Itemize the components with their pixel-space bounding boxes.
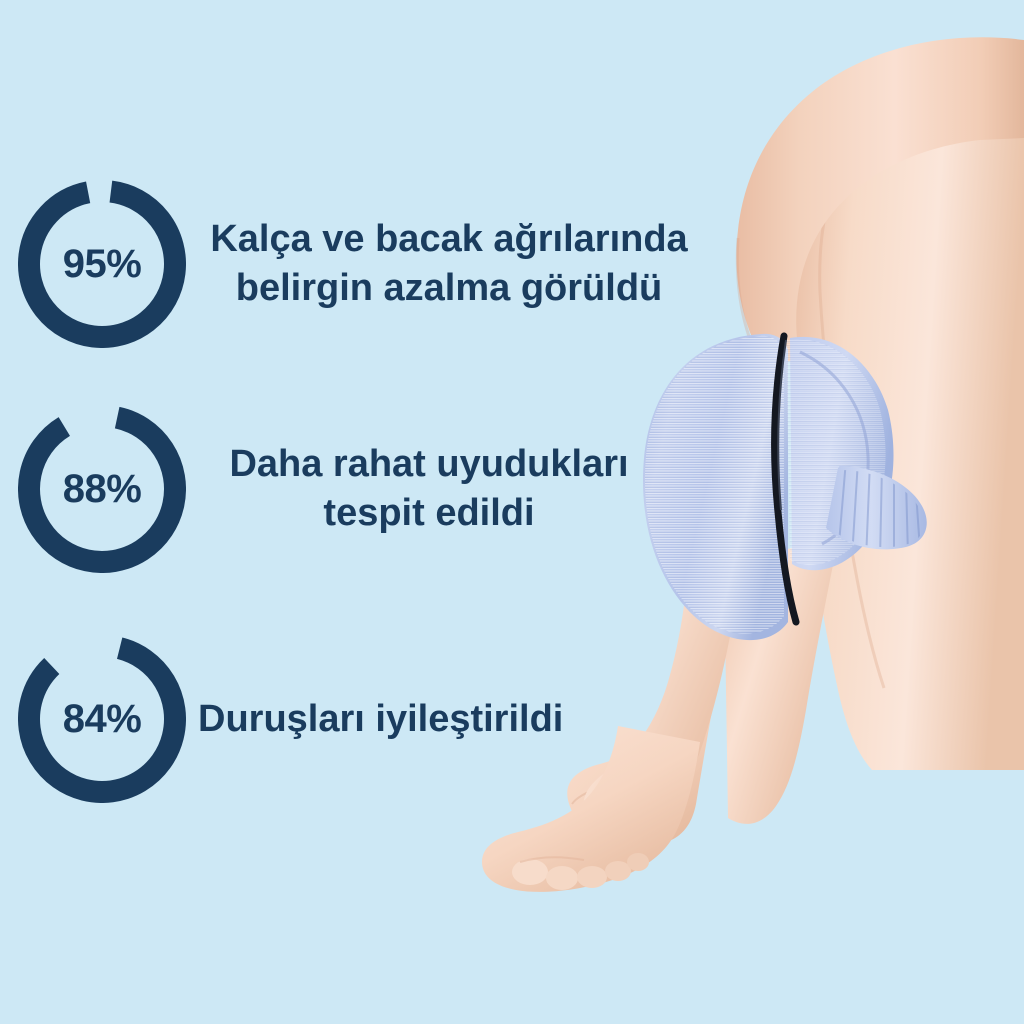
donut-chart-88: 88% xyxy=(18,405,186,573)
stat-description: Kalça ve bacak ağrılarında belirgin azal… xyxy=(186,215,712,312)
stat-row: 88% Daha rahat uyudukları tespit edildi xyxy=(0,405,700,573)
far-shin xyxy=(724,540,838,824)
pillow-strap xyxy=(826,460,927,560)
stat-row: 95% Kalça ve bacak ağrılarında belirgin … xyxy=(0,180,700,348)
donut-chart-84: 84% xyxy=(18,635,186,803)
stat-description: Duruşları iyileştirildi xyxy=(186,695,636,744)
stat-description: Daha rahat uyudukları tespit edildi xyxy=(186,440,672,537)
infographic-canvas: 95% Kalça ve bacak ağrılarında belirgin … xyxy=(0,0,1024,1024)
donut-chart-95: 95% xyxy=(18,180,186,348)
stat-row: 84% Duruşları iyileştirildi xyxy=(0,635,700,803)
far-leg xyxy=(790,60,1024,770)
near-thigh xyxy=(736,37,1024,382)
donut-value-label: 88% xyxy=(18,405,186,573)
stats-list: 95% Kalça ve bacak ağrılarında belirgin … xyxy=(0,0,700,1024)
donut-value-label: 84% xyxy=(18,635,186,803)
donut-value-label: 95% xyxy=(18,180,186,348)
